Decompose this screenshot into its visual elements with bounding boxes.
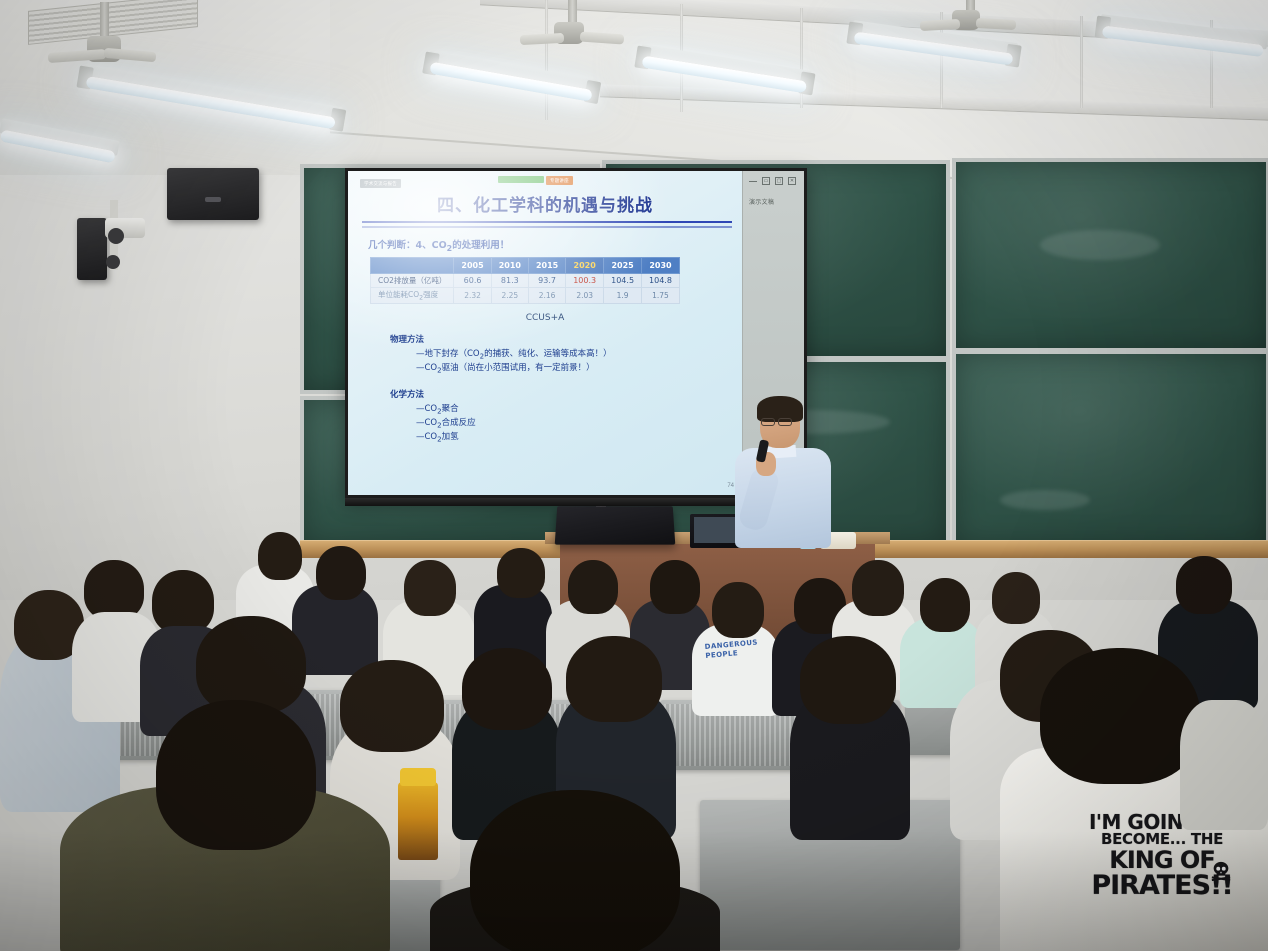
chemical-methods-item: —CO2合成反应: [390, 416, 476, 430]
lecture-hall-photo: 学术交流与报告 专题讲座 四、化工学科的机遇与挑战 几个判断：4、CO2的处理利…: [0, 0, 1268, 951]
slide-page-number: 74: [727, 483, 734, 489]
row-label-intensity: 单位能耗CO2强度: [371, 288, 454, 304]
cell-e-2030: 104.8: [642, 274, 680, 288]
skull-and-crossbones-icon: [1210, 860, 1232, 882]
ceiling-strut: [545, 0, 548, 120]
slide-subtitle: 几个判断：4、CO2的处理利用！: [368, 237, 509, 253]
camera-lens-icon: [106, 255, 120, 269]
student-head: [156, 700, 316, 850]
col-2025: 2025: [604, 258, 642, 274]
student-head: [470, 790, 680, 951]
minimize-icon[interactable]: [749, 181, 757, 182]
close-icon[interactable]: ✕: [788, 177, 796, 185]
wall-speaker-small: [77, 218, 107, 280]
presenter-glasses-icon: [778, 418, 792, 426]
ccus-label: CCUS+A: [348, 313, 742, 323]
col-2010: 2010: [491, 258, 528, 274]
student-head: [920, 578, 970, 632]
student-head: [258, 532, 302, 580]
chemical-methods-item: —CO2聚合: [390, 402, 459, 416]
student-head: [800, 636, 896, 724]
cell-e-2010: 81.3: [491, 274, 528, 288]
student-head: [196, 616, 306, 714]
slide-content: 学术交流与报告 专题讲座 四、化工学科的机遇与挑战 几个判断：4、CO2的处理利…: [348, 171, 804, 495]
col-2015: 2015: [528, 258, 565, 274]
ceiling-strut: [1080, 16, 1083, 108]
cell-i-2020: 2.03: [566, 288, 604, 304]
student-head: [852, 560, 904, 616]
student-head: [1176, 556, 1232, 614]
student-head: [84, 560, 144, 620]
wall-speaker: [167, 168, 259, 220]
table-corner-header: [371, 258, 454, 274]
cell-e-2015: 93.7: [528, 274, 565, 288]
student-head: [316, 546, 366, 600]
table-header-row: 2005 2010 2015 2020 2025 2030: [371, 258, 680, 274]
slide-tag-green: [498, 176, 544, 183]
tee-line-3: KING OF: [1062, 848, 1262, 872]
cell-e-2005: 60.6: [454, 274, 491, 288]
slide-title: 四、化工学科的机遇与挑战: [348, 191, 742, 216]
tee-line-4: PIRATES!!: [1062, 872, 1262, 900]
slide-tag-right: 专题讲座: [546, 176, 573, 185]
cell-i-2015: 2.16: [528, 288, 565, 304]
slide-tag-left: 学术交流与报告: [360, 179, 401, 188]
table-row: CO2排放量（亿吨） 60.6 81.3 93.7 100.3 104.5 10…: [371, 274, 680, 288]
title-divider: [362, 221, 732, 223]
restore-icon[interactable]: ▭: [762, 177, 770, 185]
col-2020: 2020: [566, 258, 604, 274]
physical-methods-item: —地下封存（CO2的捕获、纯化、运输等成本高！）: [390, 347, 612, 361]
student-head: [650, 560, 700, 614]
title-divider: [362, 226, 732, 228]
cell-e-2025: 104.5: [604, 274, 642, 288]
side-panel-label: 演示文稿: [749, 197, 774, 206]
presenter-monitor: [555, 506, 676, 544]
student-head: [404, 560, 456, 616]
physical-methods-item: —CO2驱油（尚在小范围试用，有一定前景！）: [390, 361, 595, 375]
cell-i-2010: 2.25: [491, 288, 528, 304]
chemical-methods-heading: 化学方法: [390, 388, 424, 400]
row-label-emissions: CO2排放量（亿吨）: [371, 274, 454, 288]
ceiling-fan-blade: [920, 19, 960, 31]
student-head: [152, 570, 214, 634]
blackboard-panel: [952, 350, 1268, 548]
presenter-glasses-icon: [761, 418, 775, 426]
student-head: [1040, 648, 1200, 784]
student-head: [566, 636, 662, 722]
cell-i-2005: 2.32: [454, 288, 491, 304]
camera-lens-icon: [108, 228, 124, 244]
chemical-methods-item: —CO2加氢: [390, 430, 459, 444]
cell-e-2020: 100.3: [566, 274, 604, 288]
student-head: [568, 560, 618, 614]
col-2030: 2030: [642, 258, 680, 274]
student-head: [340, 660, 444, 752]
col-2005: 2005: [454, 258, 491, 274]
beverage-bottle: [398, 782, 438, 860]
maximize-icon[interactable]: ▢: [775, 177, 783, 185]
ceiling-fan-blade: [976, 18, 1016, 30]
cell-i-2030: 1.75: [642, 288, 680, 304]
window-controls[interactable]: ▭ ▢ ✕: [749, 177, 796, 185]
ceiling-fan-rod: [100, 2, 109, 38]
student-head: [462, 648, 552, 730]
student-head: [712, 582, 764, 638]
ceiling-fan-rod: [568, 0, 577, 24]
co2-data-table: 2005 2010 2015 2020 2025 2030 CO2排放量（亿吨）…: [370, 257, 680, 304]
chalk-smudge: [1040, 230, 1160, 260]
student-head: [992, 572, 1040, 624]
student-body: [1180, 700, 1268, 830]
student-head: [497, 548, 545, 598]
chalk-smudge: [1000, 490, 1090, 510]
projection-screen: 学术交流与报告 专题讲座 四、化工学科的机遇与挑战 几个判断：4、CO2的处理利…: [345, 168, 807, 498]
cell-i-2025: 1.9: [604, 288, 642, 304]
bottle-cap-icon: [400, 768, 436, 786]
table-row: 单位能耗CO2强度 2.32 2.25 2.16 2.03 1.9 1.75: [371, 288, 680, 304]
physical-methods-heading: 物理方法: [390, 333, 424, 345]
